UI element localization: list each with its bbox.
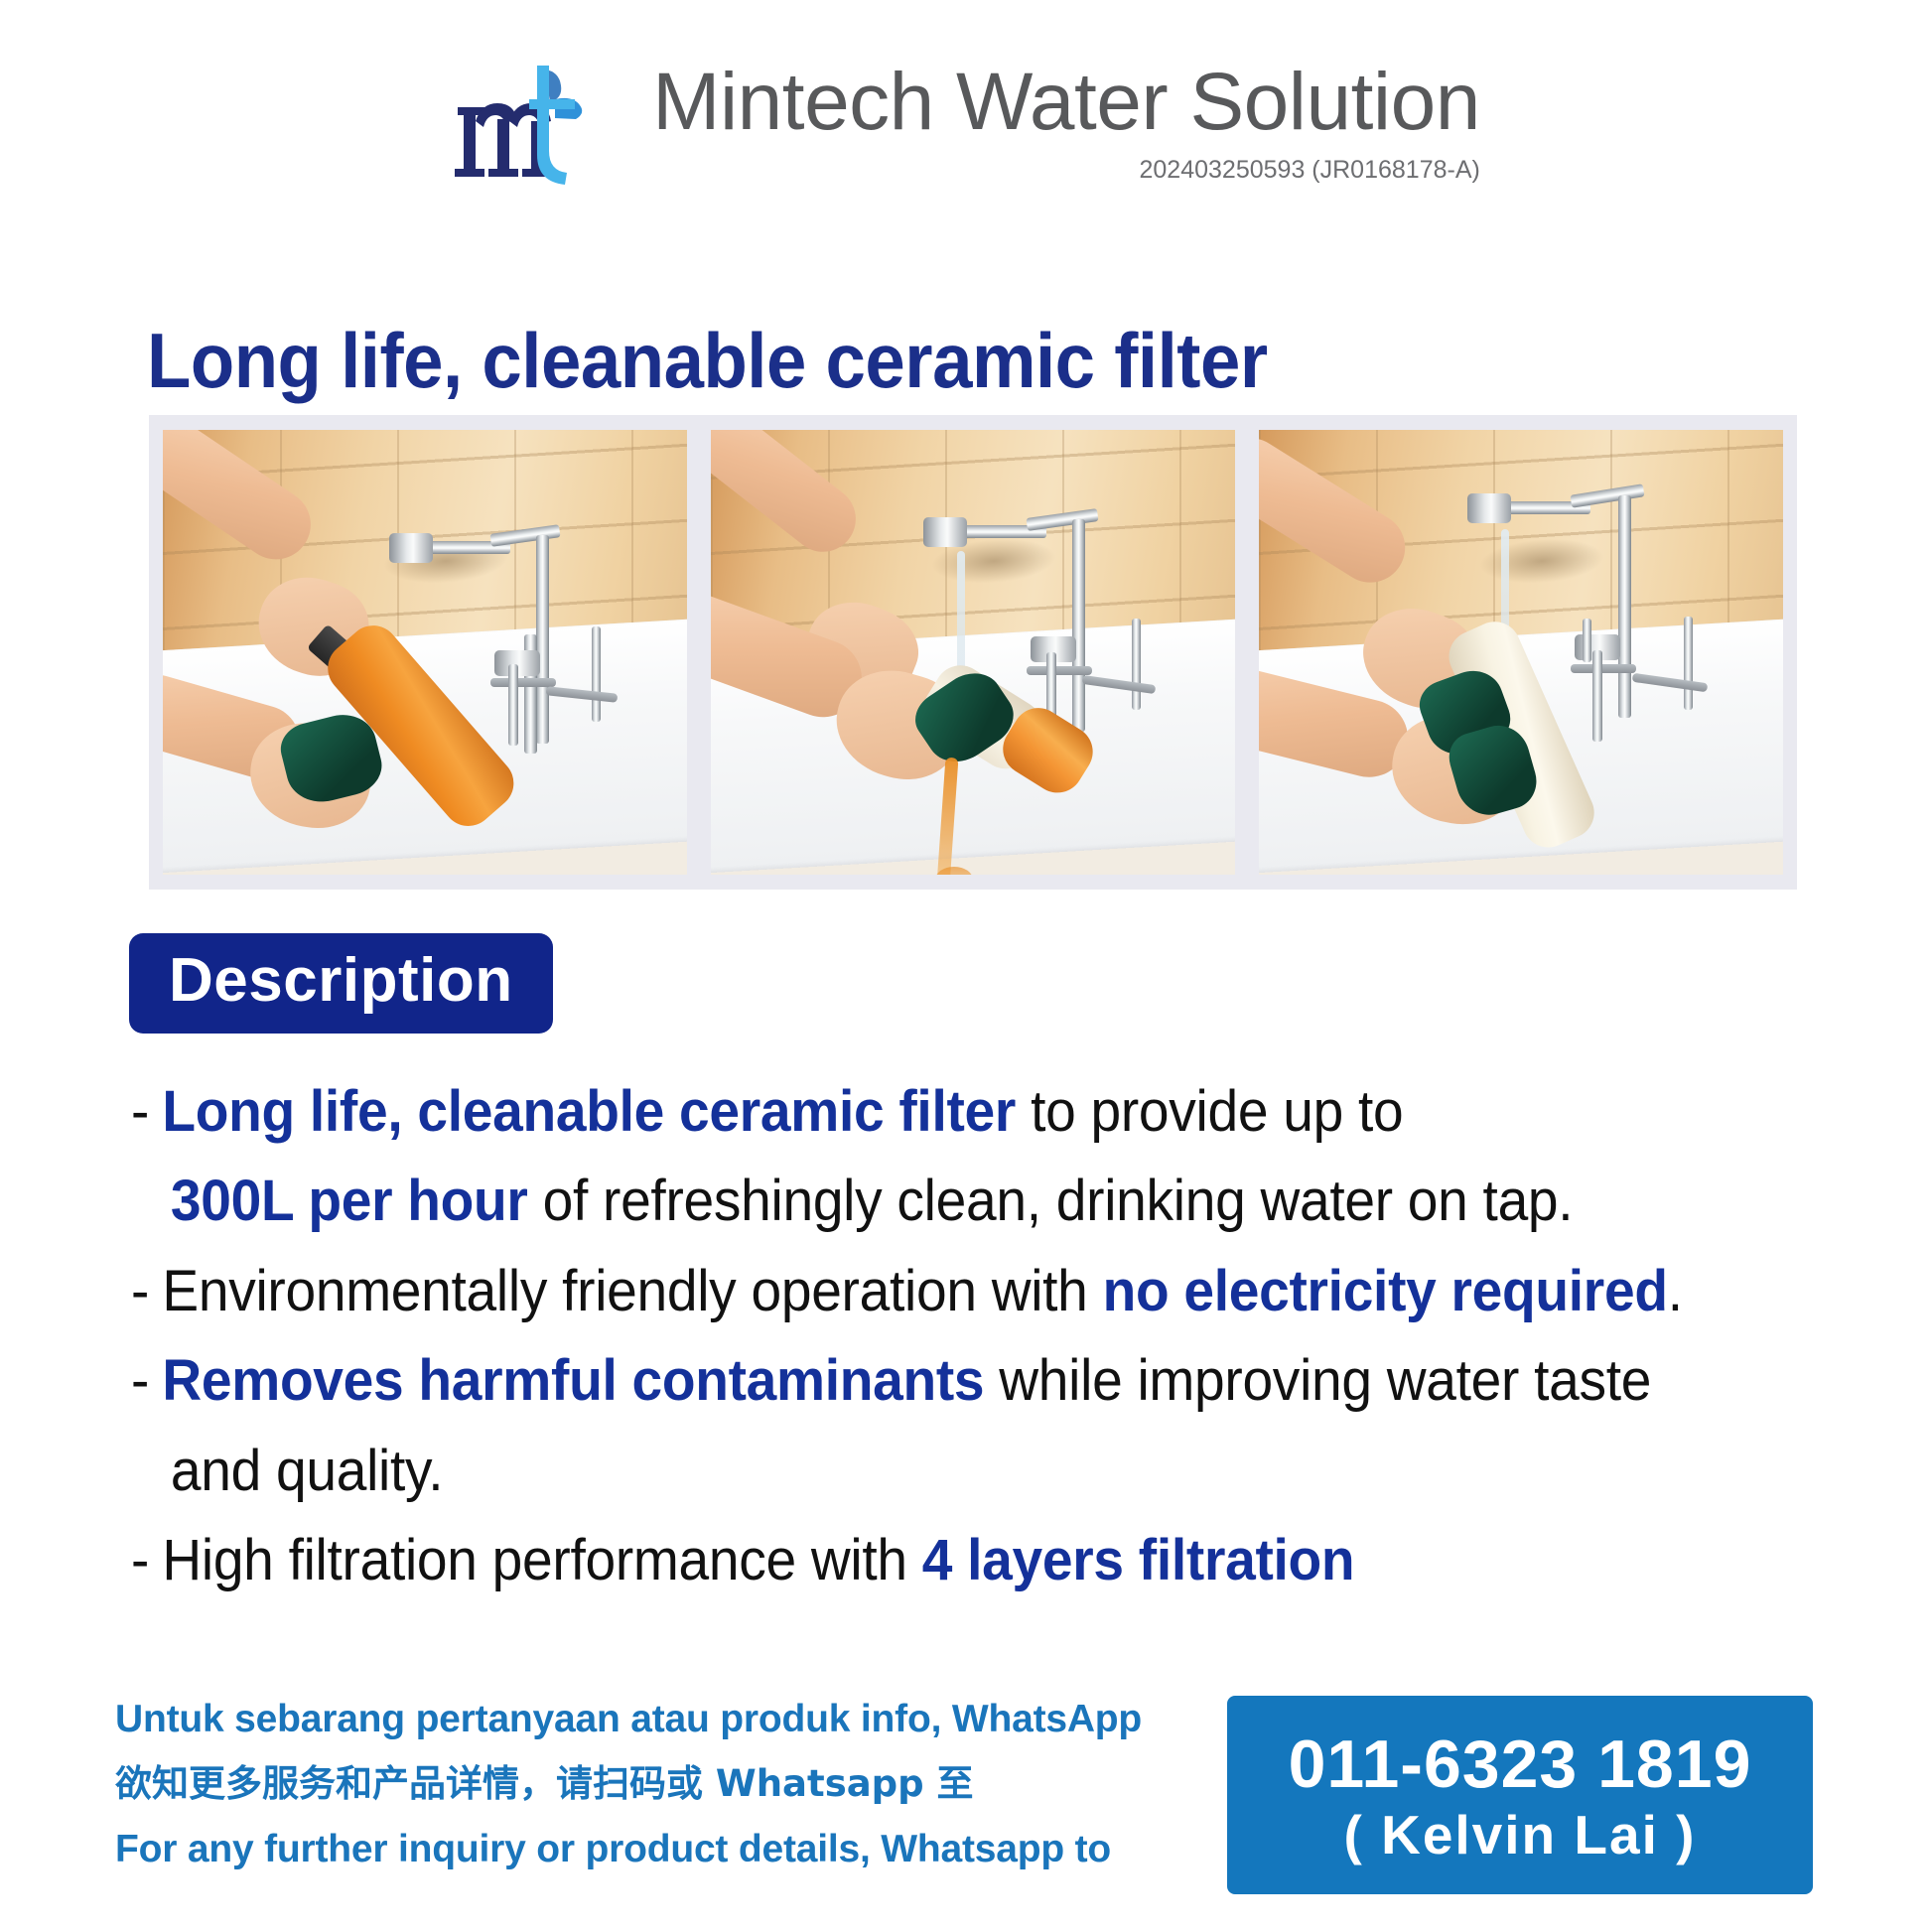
bullet-dash: - [131,1079,149,1144]
contact-line-malay: Untuk sebarang pertanyaan atau produk in… [115,1686,1197,1752]
bullet-1-line-2-rest: of refreshingly clean, drinking water on… [528,1169,1574,1233]
photo-cleaned-white-ceramic-filter [1259,430,1783,875]
bullet-dash: - [131,1259,149,1323]
bullet-dash: - [131,1348,149,1413]
bullet-3-line-2: and quality. [171,1439,443,1503]
bullet-dash: - [131,1528,149,1592]
page-title: Long life, cleanable ceramic filter [147,316,1268,406]
brand-text-block: Mintech Water Solution 202403250593 (JR0… [652,62,1480,185]
contact-line-chinese: 欲知更多服务和产品详情，请扫码或 Whatsapp 至 [115,1752,1197,1816]
description-bullet-list: -Long life, cleanable ceramic filter to … [131,1067,1839,1606]
list-item: -Long life, cleanable ceramic filter to … [131,1067,1753,1157]
list-item: -High filtration performance with 4 laye… [131,1516,1753,1605]
whatsapp-contact-badge[interactable]: 011-6323 1819 ( Kelvin Lai ) [1227,1696,1813,1894]
bullet-1-line-1-rest: to provide up to [1016,1079,1403,1144]
photo-rinsing-filter-dirty-water-runoff [711,430,1235,875]
company-registration-number: 202403250593 (JR0168178-A) [1140,156,1480,185]
logo-block: Mintech Water Solution 202403250593 (JR0… [452,52,1480,189]
whatsapp-contact-person: ( Kelvin Lai ) [1344,1803,1697,1867]
product-photo-gallery [149,415,1797,890]
description-section-badge: Description [129,933,553,1034]
list-item: -Environmentally friendly operation with… [131,1247,1753,1336]
mintech-mt-monogram-icon [452,60,601,189]
bullet-2-lead: Environmentally friendly operation with [162,1259,1102,1323]
bullet-3-rest: while improving water taste [984,1348,1651,1413]
contact-instructions: Untuk sebarang pertanyaan atau produk in… [115,1686,1197,1882]
bullet-1-line-2-highlight: 300L per hour [171,1169,528,1233]
list-item: -Removes harmful contaminants while impr… [131,1336,1753,1426]
bullet-3-highlight: Removes harmful contaminants [162,1348,984,1413]
brand-name: Mintech Water Solution [652,62,1480,143]
bullet-1-line-1-highlight: Long life, cleanable ceramic filter [162,1079,1016,1144]
bullet-4-highlight: 4 layers filtration [922,1528,1355,1592]
list-item-continuation: and quality. [131,1427,1753,1516]
list-item-continuation: 300L per hour of refreshingly clean, dri… [131,1157,1753,1246]
whatsapp-phone-number[interactable]: 011-6323 1819 [1289,1726,1752,1802]
bullet-4-lead: High filtration performance with [162,1528,921,1592]
bullet-2-highlight: no electricity required [1103,1259,1668,1323]
photo-scrubbing-dirty-ceramic-filter [163,430,687,875]
contact-line-english: For any further inquiry or product detai… [115,1816,1197,1882]
bullet-2-tail: . [1668,1259,1683,1323]
brand-header: Mintech Water Solution 202403250593 (JR0… [0,52,1932,189]
